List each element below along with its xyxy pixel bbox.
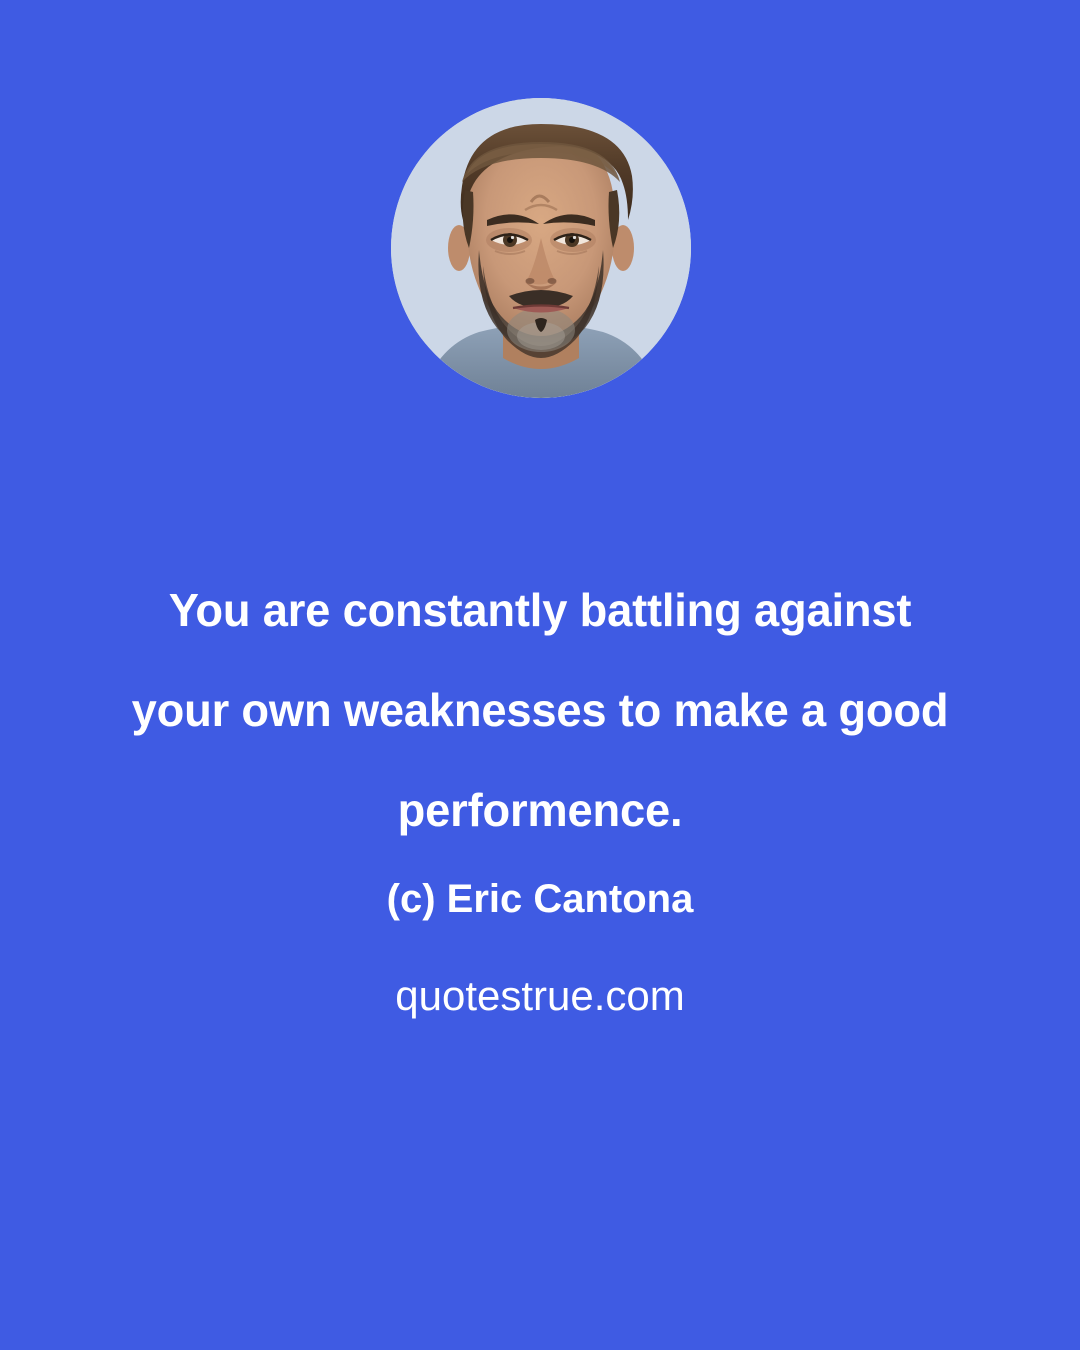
quote-author: (c) Eric Cantona — [0, 872, 1080, 926]
quote-card: You are constantly battling against your… — [0, 0, 1080, 1350]
quote-text: You are constantly battling against your… — [0, 560, 1080, 860]
portrait-avatar-icon — [391, 98, 691, 398]
quote-line-3: performence. — [8, 760, 1072, 860]
quote-line-1: You are constantly battling against — [8, 560, 1072, 660]
quote-line-2: your own weaknesses to make a good — [8, 660, 1072, 760]
avatar — [391, 98, 691, 398]
site-watermark: quotestrue.com — [0, 968, 1080, 1024]
